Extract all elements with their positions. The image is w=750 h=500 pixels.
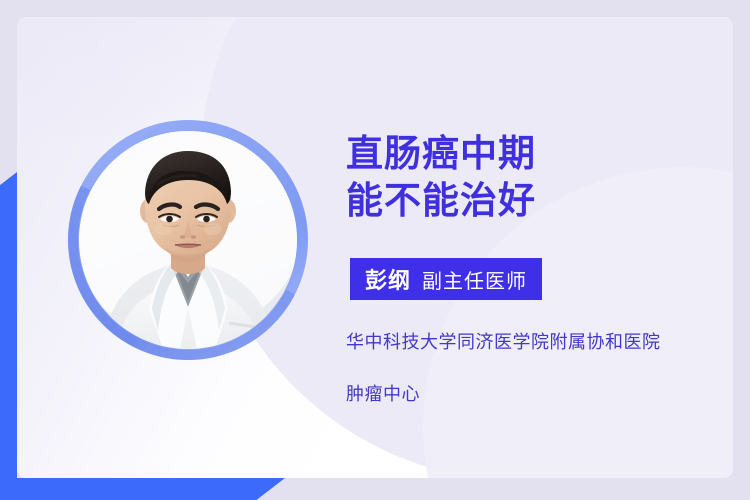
avatar-photo bbox=[79, 131, 297, 349]
avatar bbox=[68, 120, 308, 360]
doctor-professional-title: 副主任医师 bbox=[422, 265, 527, 294]
doctor-hospital: 华中科技大学同济医学院附属协和医院 bbox=[346, 328, 661, 354]
accent-left-bar-decoration bbox=[0, 172, 17, 500]
text-column: 直肠癌中期 能不能治好 彭纲 副主任医师 华中科技大学同济医学院附属协和医院 肿… bbox=[346, 17, 733, 478]
doctor-credential-badge: 彭纲 副主任医师 bbox=[350, 258, 542, 300]
page-title: 直肠癌中期 能不能治好 bbox=[346, 130, 536, 224]
accent-bottom-bar-decoration bbox=[0, 478, 285, 500]
thumbnail-canvas: 直肠癌中期 能不能治好 彭纲 副主任医师 华中科技大学同济医学院附属协和医院 肿… bbox=[0, 0, 750, 500]
doctor-department: 肿瘤中心 bbox=[346, 380, 420, 406]
doctor-name: 彭纲 bbox=[365, 263, 411, 295]
corner-wedge-decoration bbox=[17, 17, 317, 137]
doctor-info-card: 直肠癌中期 能不能治好 彭纲 副主任医师 华中科技大学同济医学院附属协和医院 肿… bbox=[17, 17, 733, 478]
